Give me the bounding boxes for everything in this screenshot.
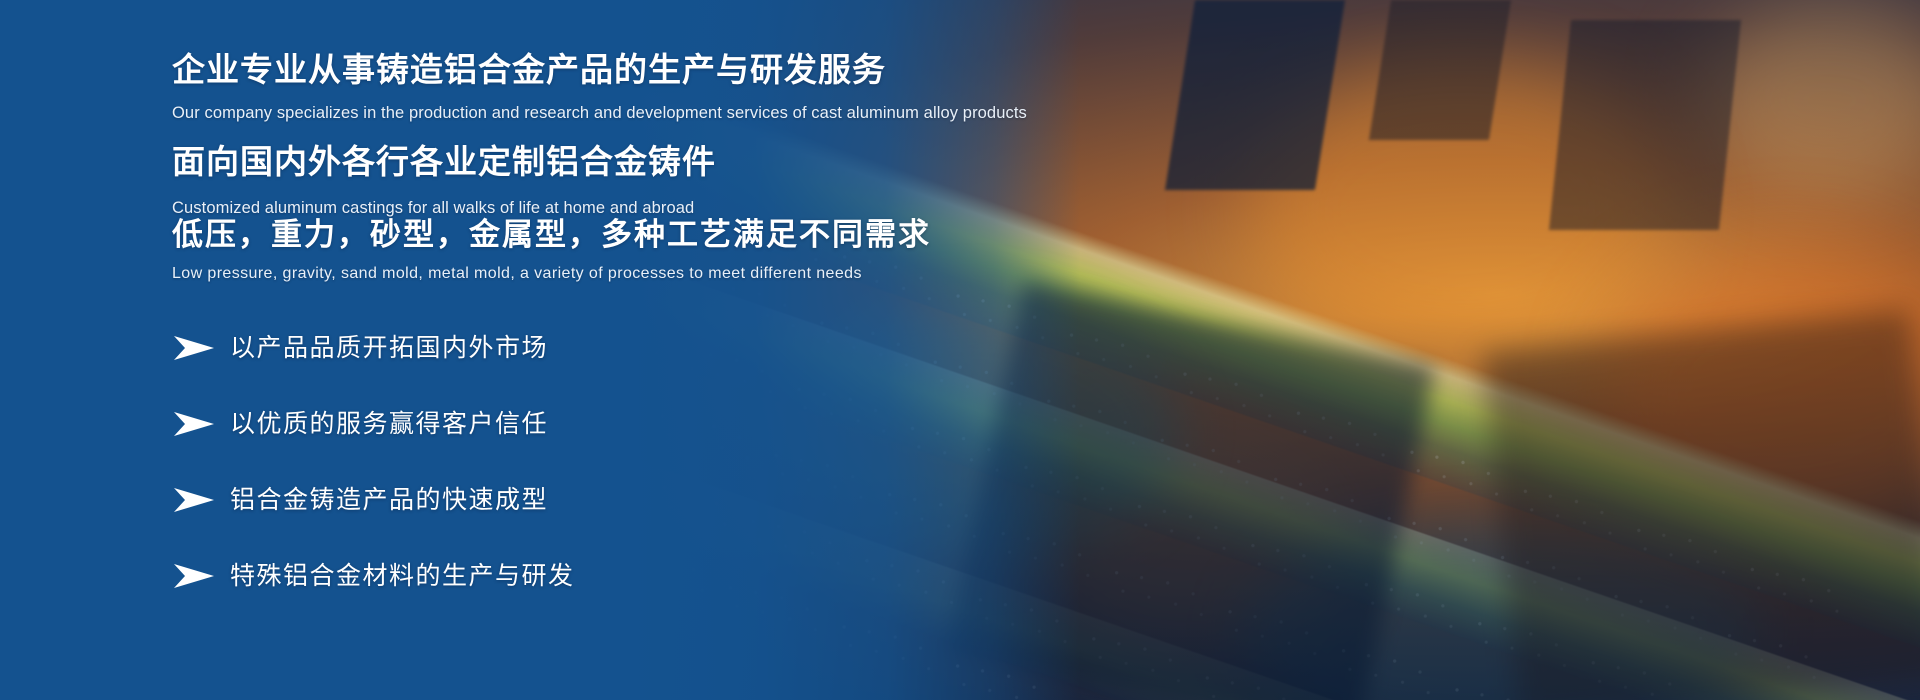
list-item[interactable]: 特殊铝合金材料的生产与研发	[172, 548, 575, 604]
arrow-right-icon	[172, 487, 216, 513]
list-item-label: 以优质的服务赢得客户信任	[230, 412, 548, 437]
heading-block-2: 面向国内外各行各业定制铝合金铸件 Customized aluminum cas…	[172, 142, 716, 219]
list-item-label: 铝合金铸造产品的快速成型	[230, 488, 548, 513]
heading-3-cn: 低压，重力，砂型，金属型，多种工艺满足不同需求	[172, 216, 931, 253]
arrow-right-icon	[172, 563, 216, 589]
hero-banner: 企业专业从事铸造铝合金产品的生产与研发服务 Our company specia…	[0, 0, 1920, 700]
list-item[interactable]: 以优质的服务赢得客户信任	[172, 396, 575, 452]
heading-block-3: 低压，重力，砂型，金属型，多种工艺满足不同需求 Low pressure, gr…	[172, 216, 931, 285]
heading-block-1: 企业专业从事铸造铝合金产品的生产与研发服务 Our company specia…	[172, 50, 1027, 124]
arrow-right-icon	[172, 335, 216, 361]
banner-content: 企业专业从事铸造铝合金产品的生产与研发服务 Our company specia…	[0, 0, 1100, 700]
list-item[interactable]: 以产品品质开拓国内外市场	[172, 320, 575, 376]
arrow-right-icon	[172, 411, 216, 437]
feature-list: 以产品品质开拓国内外市场 以优质的服务赢得客户信任 铝合金铸造产品的快速成型	[172, 320, 575, 604]
list-item[interactable]: 铝合金铸造产品的快速成型	[172, 472, 575, 528]
heading-1-en: Our company specializes in the productio…	[172, 103, 1027, 124]
list-item-label: 特殊铝合金材料的生产与研发	[230, 564, 575, 589]
list-item-label: 以产品品质开拓国内外市场	[230, 336, 548, 361]
heading-3-en: Low pressure, gravity, sand mold, metal …	[172, 264, 931, 285]
heading-1-cn: 企业专业从事铸造铝合金产品的生产与研发服务	[172, 50, 1027, 90]
heading-2-cn: 面向国内外各行各业定制铝合金铸件	[172, 142, 716, 182]
